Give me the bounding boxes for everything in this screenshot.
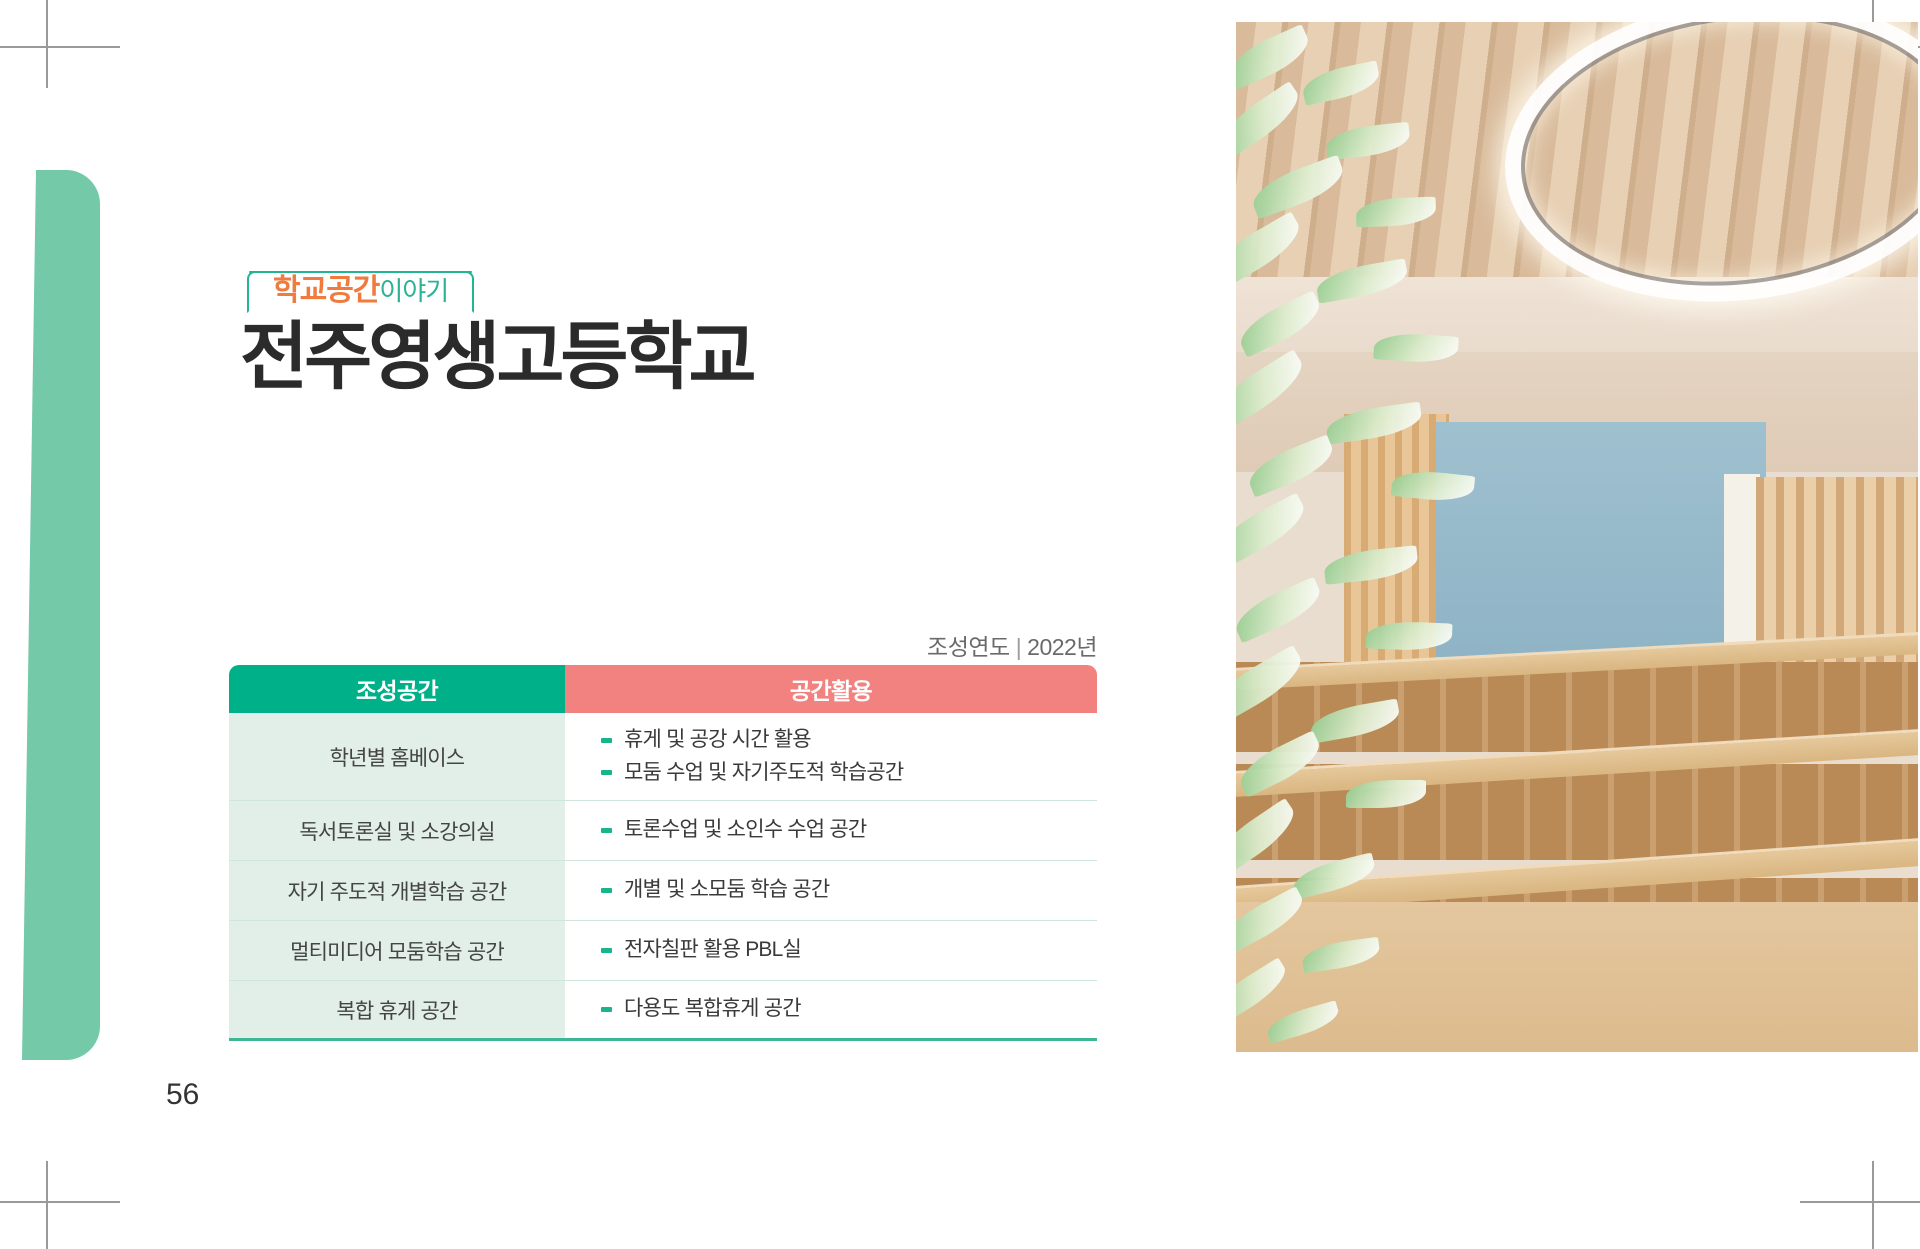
dash-bullet-icon [601, 1007, 612, 1012]
badge-primary-label: 학교공간 [273, 276, 379, 306]
dash-bullet-icon [601, 888, 612, 893]
badge-top-rule [249, 271, 472, 273]
table-cell-usage: 토론수업 및 소인수 수업 공간 [565, 801, 1097, 860]
photo-foreground-plant [1236, 22, 1536, 1052]
year-value: 2022년 [1027, 634, 1097, 660]
section-badge: 학교공간 이야기 [247, 268, 474, 316]
usage-text: 전자칠판 활용 PBL실 [624, 934, 801, 967]
table-cell-space: 복합 휴게 공간 [229, 981, 565, 1038]
table-cell-usage: 전자칠판 활용 PBL실 [565, 921, 1097, 980]
dash-bullet-icon [601, 828, 612, 833]
table-cell-usage: 다용도 복합휴게 공간 [565, 981, 1097, 1038]
table-header-usage: 공간활용 [565, 665, 1097, 713]
table-cell-space: 학년별 홈베이스 [229, 713, 565, 800]
table-row: 자기 주도적 개별학습 공간 개별 및 소모둠 학습 공간 [229, 861, 1097, 921]
crop-mark-top-left-horizontal [0, 46, 120, 48]
space-usage-table: 조성공간 공간활용 학년별 홈베이스 휴게 및 공강 시간 활용 모둠 수업 및… [229, 665, 1097, 1041]
crop-mark-bottom-right-horizontal [1800, 1201, 1920, 1203]
page-root: 학교공간 이야기 전주영생고등학교 조성연도|2022년 조성공간 공간활용 학… [0, 0, 1920, 1249]
interior-photo [1236, 22, 1918, 1052]
usage-item: 휴게 및 공강 시간 활용 [601, 724, 1097, 757]
dash-bullet-icon [601, 738, 612, 743]
table-cell-usage: 휴게 및 공강 시간 활용 모둠 수업 및 자기주도적 학습공간 [565, 713, 1097, 800]
table-cell-space: 멀티미디어 모둠학습 공간 [229, 921, 565, 980]
table-header-row: 조성공간 공간활용 [229, 665, 1097, 713]
usage-text: 모둠 수업 및 자기주도적 학습공간 [624, 757, 903, 790]
badge-secondary-label: 이야기 [379, 278, 448, 304]
year-meta: 조성연도|2022년 [0, 628, 1097, 662]
table-cell-usage: 개별 및 소모둠 학습 공간 [565, 861, 1097, 920]
table-row: 복합 휴게 공간 다용도 복합휴게 공간 [229, 981, 1097, 1041]
crop-mark-bottom-right-vertical [1872, 1161, 1874, 1249]
dash-bullet-icon [601, 770, 612, 775]
crop-mark-bottom-left-vertical [46, 1161, 48, 1249]
usage-item: 모둠 수업 및 자기주도적 학습공간 [601, 757, 1097, 790]
page-number: 56 [166, 1078, 199, 1112]
table-cell-space: 자기 주도적 개별학습 공간 [229, 861, 565, 920]
year-label: 조성연도 [927, 634, 1010, 660]
table-header-space: 조성공간 [229, 665, 565, 713]
dash-bullet-icon [601, 948, 612, 953]
usage-text: 휴게 및 공강 시간 활용 [624, 724, 811, 757]
usage-item: 개별 및 소모둠 학습 공간 [601, 874, 1097, 907]
year-separator: | [1010, 634, 1027, 660]
table-row: 멀티미디어 모둠학습 공간 전자칠판 활용 PBL실 [229, 921, 1097, 981]
usage-text: 다용도 복합휴게 공간 [624, 993, 801, 1026]
crop-mark-bottom-left-horizontal [0, 1201, 120, 1203]
crop-mark-top-left-vertical [46, 0, 48, 88]
usage-item: 전자칠판 활용 PBL실 [601, 934, 1097, 967]
usage-item: 토론수업 및 소인수 수업 공간 [601, 814, 1097, 847]
table-cell-space: 독서토론실 및 소강의실 [229, 801, 565, 860]
left-green-tab [22, 170, 100, 1060]
usage-text: 개별 및 소모둠 학습 공간 [624, 874, 829, 907]
table-row: 독서토론실 및 소강의실 토론수업 및 소인수 수업 공간 [229, 801, 1097, 861]
usage-text: 토론수업 및 소인수 수업 공간 [624, 814, 866, 847]
page-title: 전주영생고등학교 [240, 318, 753, 396]
usage-item: 다용도 복합휴게 공간 [601, 993, 1097, 1026]
table-row: 학년별 홈베이스 휴게 및 공강 시간 활용 모둠 수업 및 자기주도적 학습공… [229, 713, 1097, 801]
